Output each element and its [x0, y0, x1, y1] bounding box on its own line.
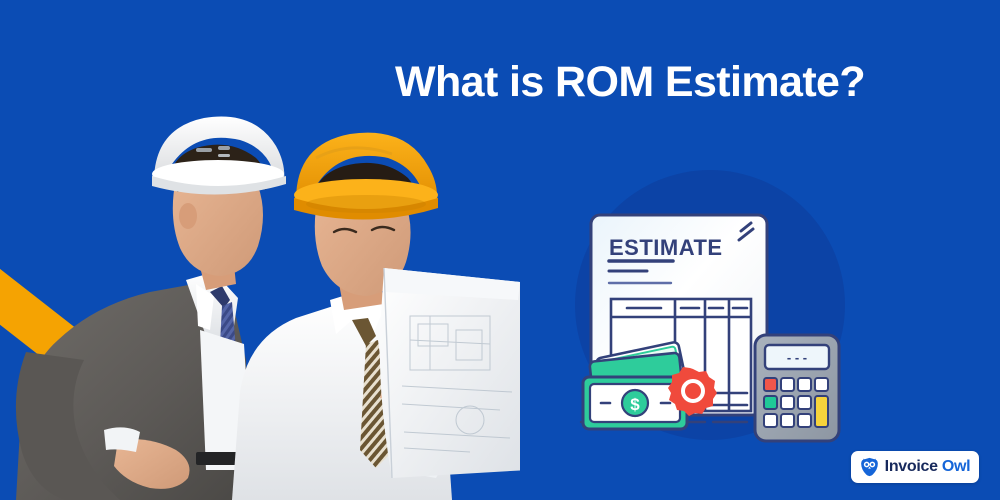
- banner-title: What is ROM Estimate?: [395, 60, 975, 105]
- calculator: - - -: [755, 335, 839, 441]
- svg-text:$: $: [630, 395, 640, 414]
- blueprint-paper: [380, 268, 520, 478]
- banner-canvas: What is ROM Estimate? ESTIMATE: [0, 0, 1000, 500]
- logo-word-invoice: Invoice: [885, 458, 938, 475]
- calculator-display: - - -: [787, 350, 807, 365]
- invoiceowl-logo[interactable]: Invoice Owl: [851, 451, 979, 483]
- logo-wordmark: Invoice Owl: [885, 458, 971, 476]
- estimate-doc-title: ESTIMATE: [609, 235, 723, 260]
- estimate-illustration: ESTIMATE: [575, 195, 845, 445]
- owl-icon: [860, 457, 879, 477]
- logo-word-owl: Owl: [938, 458, 971, 475]
